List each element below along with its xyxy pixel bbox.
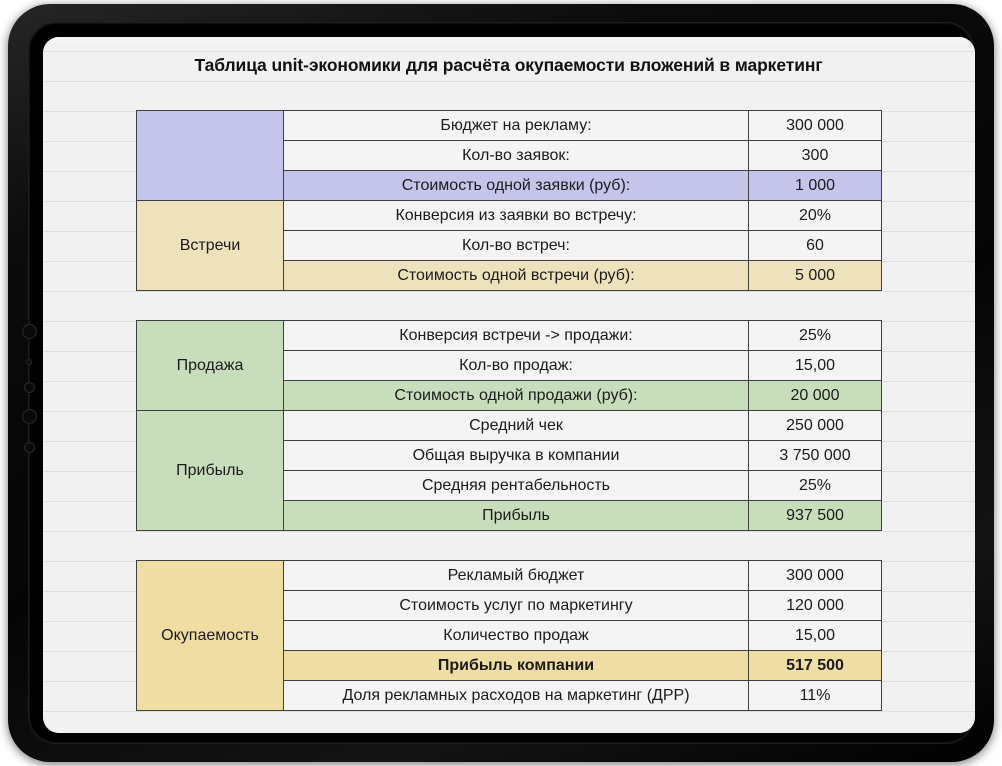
mute-button[interactable] xyxy=(24,442,35,453)
table-row[interactable]: Бюджет на рекламу:300 000 xyxy=(137,111,882,141)
row-label-cell[interactable]: Бюджет на рекламу: xyxy=(284,111,749,141)
row-label-cell[interactable]: Стоимость одной заявки (руб): xyxy=(284,171,749,201)
table-row[interactable]: ПродажаКонверсия встречи -> продажи:25% xyxy=(137,321,882,351)
row-value-cell[interactable]: 1 000 xyxy=(749,171,882,201)
row-label-cell[interactable]: Средний чек xyxy=(284,411,749,441)
table-leads-meetings: Бюджет на рекламу:300 000Кол-во заявок:3… xyxy=(136,110,882,291)
spreadsheet-top-edge xyxy=(43,37,975,49)
row-label-cell[interactable]: Доля рекламных расходов на маркетинг (ДР… xyxy=(284,681,749,711)
tablet-screen: Таблица unit-экономики для расчёта окупа… xyxy=(43,37,975,733)
row-value-cell[interactable]: 25% xyxy=(749,321,882,351)
row-label-cell[interactable]: Кол-во встреч: xyxy=(284,231,749,261)
table-sales: ПродажаКонверсия встречи -> продажи:25%К… xyxy=(136,320,882,411)
row-category-cell[interactable] xyxy=(137,111,284,201)
power-button[interactable] xyxy=(22,324,37,339)
row-value-cell[interactable]: 15,00 xyxy=(749,621,882,651)
row-value-cell[interactable]: 937 500 xyxy=(749,501,882,531)
row-value-cell[interactable]: 15,00 xyxy=(749,351,882,381)
row-value-cell[interactable]: 300 000 xyxy=(749,561,882,591)
row-label-cell[interactable]: Рекламый бюджет xyxy=(284,561,749,591)
row-value-cell[interactable]: 517 500 xyxy=(749,651,882,681)
row-value-cell[interactable]: 3 750 000 xyxy=(749,441,882,471)
row-label-cell[interactable]: Средняя рентабельность xyxy=(284,471,749,501)
table-row[interactable]: ВстречиКонверсия из заявки во встречу:20… xyxy=(137,201,882,231)
row-value-cell[interactable]: 11% xyxy=(749,681,882,711)
row-label-cell[interactable]: Стоимость одной встречи (руб): xyxy=(284,261,749,291)
row-value-cell[interactable]: 300 000 xyxy=(749,111,882,141)
row-value-cell[interactable]: 25% xyxy=(749,471,882,501)
row-label-cell[interactable]: Количество продаж xyxy=(284,621,749,651)
row-label-cell[interactable]: Общая выручка в компании xyxy=(284,441,749,471)
row-value-cell[interactable]: 60 xyxy=(749,231,882,261)
row-value-cell[interactable]: 5 000 xyxy=(749,261,882,291)
row-label-cell[interactable]: Кол-во продаж: xyxy=(284,351,749,381)
row-label-cell[interactable]: Стоимость услуг по маркетингу xyxy=(284,591,749,621)
volume-down-button[interactable] xyxy=(24,382,35,393)
row-label-cell[interactable]: Кол-во заявок: xyxy=(284,141,749,171)
row-category-cell[interactable]: Окупаемость xyxy=(137,561,284,711)
row-value-cell[interactable]: 20% xyxy=(749,201,882,231)
row-value-cell[interactable]: 120 000 xyxy=(749,591,882,621)
row-label-cell[interactable]: Прибыль компании xyxy=(284,651,749,681)
row-label-cell[interactable]: Стоимость одной продажи (руб): xyxy=(284,381,749,411)
row-value-cell[interactable]: 300 xyxy=(749,141,882,171)
table-row[interactable]: ОкупаемостьРекламый бюджет300 000 xyxy=(137,561,882,591)
tablet-device-frame: Таблица unit-экономики для расчёта окупа… xyxy=(8,4,994,762)
page-title: Таблица unit-экономики для расчёта окупа… xyxy=(194,55,822,76)
indicator-dot-icon xyxy=(26,359,32,365)
spreadsheet-title-row: Таблица unit-экономики для расчёта окупа… xyxy=(136,49,881,82)
table-payback: ОкупаемостьРекламый бюджет300 000Стоимос… xyxy=(136,560,882,711)
row-label-cell[interactable]: Конверсия из заявки во встречу: xyxy=(284,201,749,231)
table-row[interactable]: ПрибыльСредний чек250 000 xyxy=(137,411,882,441)
row-value-cell[interactable]: 250 000 xyxy=(749,411,882,441)
row-category-cell[interactable]: Встречи xyxy=(137,201,284,291)
row-label-cell[interactable]: Прибыль xyxy=(284,501,749,531)
row-category-cell[interactable]: Продажа xyxy=(137,321,284,411)
row-category-cell[interactable]: Прибыль xyxy=(137,411,284,531)
row-value-cell[interactable]: 20 000 xyxy=(749,381,882,411)
volume-up-button[interactable] xyxy=(22,409,37,424)
row-label-cell[interactable]: Конверсия встречи -> продажи: xyxy=(284,321,749,351)
table-profit: ПрибыльСредний чек250 000Общая выручка в… xyxy=(136,410,882,531)
